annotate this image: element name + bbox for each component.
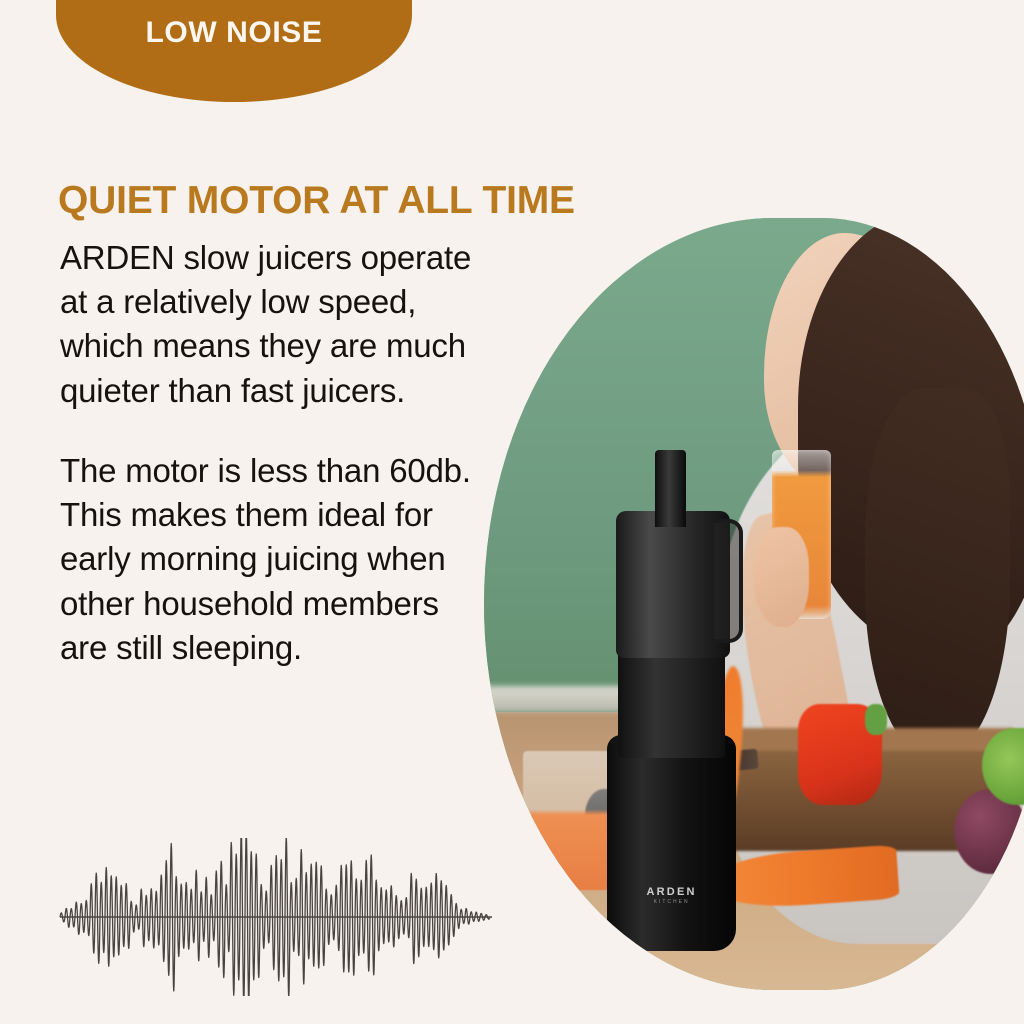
pepper-stem bbox=[865, 704, 887, 735]
page-title: QUIET MOTOR AT ALL TIME bbox=[58, 180, 575, 223]
juicer-feed-chute bbox=[655, 450, 686, 527]
juicer-base bbox=[607, 735, 736, 951]
body-copy: ARDEN slow juicers operate at a relative… bbox=[60, 236, 480, 670]
juicer-brand-logo: ARDEN KITCHEN bbox=[632, 886, 710, 906]
lifestyle-photo-woman-drinking-juice: ARDEN KITCHEN bbox=[484, 218, 1024, 990]
juicer-brand-tagline: KITCHEN bbox=[632, 900, 710, 906]
infographic-canvas: LOW NOISE QUIET MOTOR AT ALL TIME ARDEN … bbox=[0, 0, 1024, 1024]
audio-waveform-graphic bbox=[58, 838, 494, 996]
body-paragraph-1: ARDEN slow juicers operate at a relative… bbox=[60, 236, 480, 413]
juicer-handle bbox=[714, 519, 743, 643]
photo-scene: ARDEN KITCHEN bbox=[484, 218, 1024, 990]
woman-hair-strand bbox=[865, 388, 1011, 759]
body-paragraph-2: The motor is less than 60db. This makes … bbox=[60, 449, 480, 670]
juice-cup bbox=[523, 751, 613, 890]
low-noise-badge: LOW NOISE bbox=[56, 0, 412, 102]
badge-label: LOW NOISE bbox=[145, 18, 322, 48]
juicer-brand-name: ARDEN bbox=[632, 886, 710, 898]
woman-hand bbox=[753, 527, 809, 627]
